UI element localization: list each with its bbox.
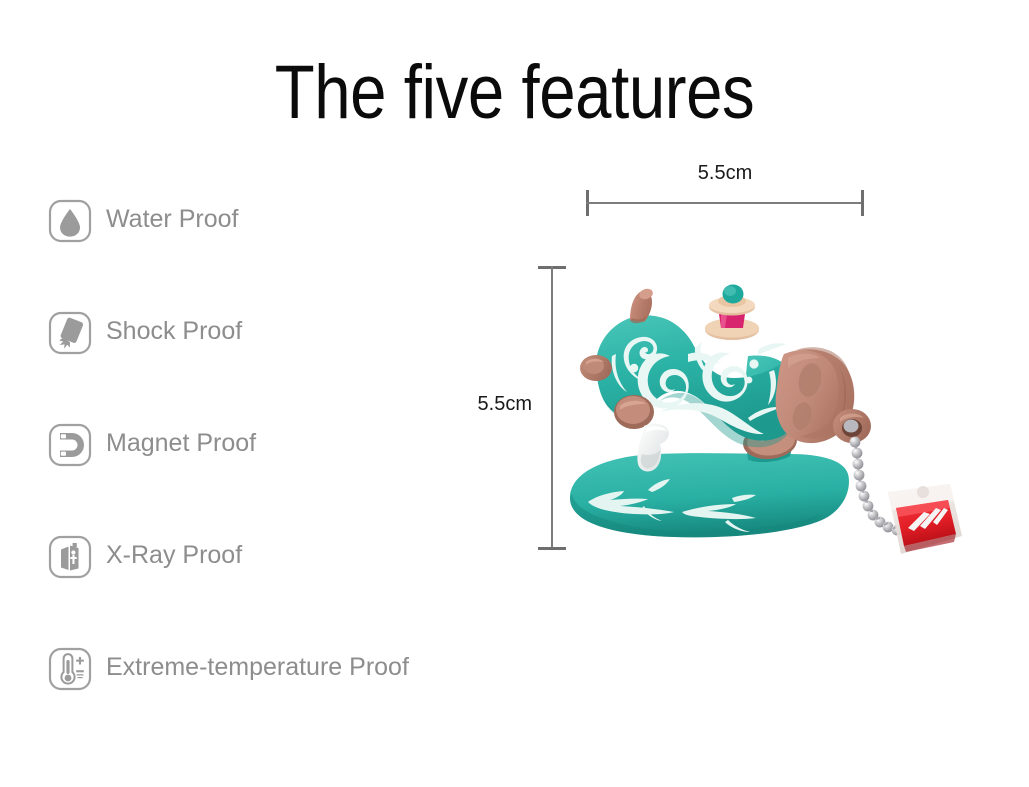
page-title: The five features: [72, 48, 957, 138]
feature-label: Water Proof: [106, 196, 238, 242]
xray-scanner-icon: [48, 534, 92, 580]
dimension-width-label: 5.5cm: [586, 162, 864, 185]
feature-label: Magnet Proof: [106, 420, 256, 466]
feature-label: Shock Proof: [106, 308, 242, 354]
dimension-cap-right: [861, 190, 864, 216]
usb-connector: [888, 484, 962, 554]
thread-spool-top: [705, 285, 759, 341]
feature-item-shock-proof: Shock Proof: [48, 308, 518, 420]
dimension-bar-horizontal: [586, 202, 864, 204]
feature-label: X-Ray Proof: [106, 532, 242, 578]
dimension-width-line: [586, 190, 864, 216]
shock-impact-icon: [48, 310, 92, 356]
feature-list: Water Proof Shock Proof: [48, 196, 518, 756]
feature-item-magnet-proof: Magnet Proof: [48, 420, 518, 532]
feature-item-xray-proof: X-Ray Proof: [48, 532, 518, 644]
thermometer-plus-minus-icon: [48, 646, 92, 692]
dimension-height-label: 5.5cm: [452, 393, 532, 416]
handwheel: [776, 347, 871, 443]
product-feature-infographic: The five features Water Proof: [0, 0, 1029, 787]
horseshoe-magnet-icon: [48, 422, 92, 468]
tension-dial: [614, 395, 654, 429]
feature-label: Extreme-temperature Proof: [106, 644, 409, 690]
feature-item-water-proof: Water Proof: [48, 196, 518, 308]
machine-base: [570, 453, 849, 537]
water-drop-icon: [48, 198, 92, 244]
side-knob-left: [580, 355, 612, 381]
product-image-sewing-machine-usb: [552, 258, 972, 578]
feature-item-extreme-temperature-proof: Extreme-temperature Proof: [48, 644, 518, 756]
